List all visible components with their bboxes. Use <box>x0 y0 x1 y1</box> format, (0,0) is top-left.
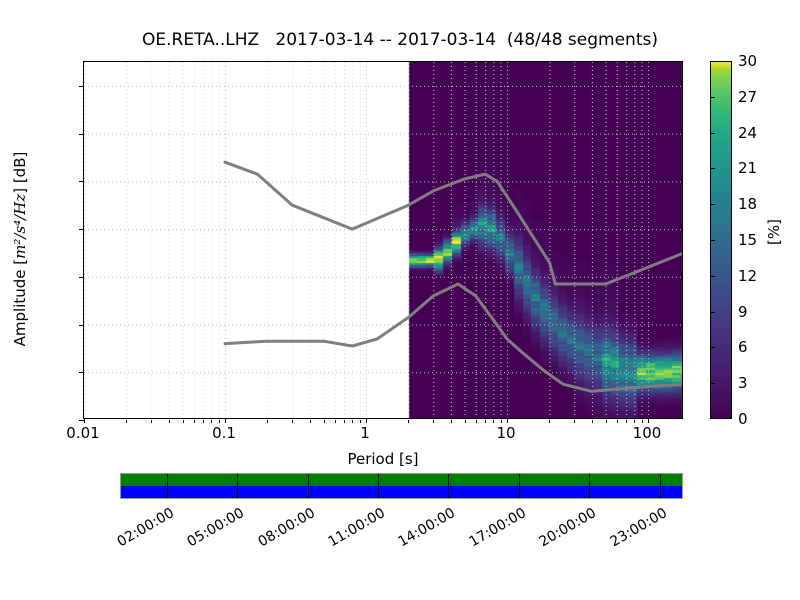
x-tick-mark <box>648 418 649 423</box>
x-tick-mark <box>592 420 593 423</box>
coverage-time-label: 17:00:00 <box>460 505 529 554</box>
coverage-time-label: 02:00:00 <box>108 505 177 554</box>
x-axis-label: Period [s] <box>83 450 683 468</box>
coverage-row-green <box>121 474 682 486</box>
colorbar-tick-label: 6 <box>738 338 748 356</box>
colorbar-tick-label: 3 <box>738 374 748 392</box>
x-tick-mark <box>451 420 452 423</box>
x-tick-mark <box>310 420 311 423</box>
nhnm-curve <box>225 162 682 284</box>
coverage-time-label: 11:00:00 <box>319 505 388 554</box>
x-tick-mark <box>476 420 477 423</box>
coverage-time-label: 20:00:00 <box>531 505 600 554</box>
colorbar-tick-mark <box>710 312 715 313</box>
coverage-time-label: 14:00:00 <box>390 505 459 554</box>
colorbar-tick-label: 24 <box>738 124 757 142</box>
coverage-row-blue <box>121 486 682 498</box>
x-tick-mark <box>549 420 550 423</box>
x-tick-mark <box>433 420 434 423</box>
x-tick-mark <box>493 420 494 423</box>
colorbar-tick-mark <box>710 347 715 348</box>
x-tick-mark <box>360 420 361 423</box>
coverage-tick <box>589 474 590 498</box>
coverage-time-label: 05:00:00 <box>179 505 248 554</box>
noise-model-curves <box>84 62 682 418</box>
x-tick-mark <box>617 420 618 423</box>
coverage-tick <box>519 474 520 498</box>
time-coverage-bar[interactable] <box>120 473 683 499</box>
colorbar-tick-label: 27 <box>738 88 757 106</box>
x-tick-mark <box>267 420 268 423</box>
coverage-time-label: 08:00:00 <box>249 505 318 554</box>
coverage-tick <box>237 474 238 498</box>
x-tick-mark <box>219 420 220 423</box>
x-tick-mark <box>151 420 152 423</box>
ppsd-canvas <box>84 62 682 418</box>
x-tick-mark <box>465 420 466 423</box>
y-axis-label-suffix: ] [dB] <box>11 152 29 194</box>
y-tick-mark <box>79 277 84 278</box>
y-tick-mark <box>79 86 84 87</box>
coverage-tick <box>448 474 449 498</box>
coverage-tick <box>660 474 661 498</box>
coverage-tick <box>308 474 309 498</box>
colorbar-tick-mark <box>710 168 715 169</box>
colorbar-tick-label: 12 <box>738 267 757 285</box>
y-axis-label-units: m²/s⁴/Hz <box>11 194 29 259</box>
y-tick-mark <box>79 325 84 326</box>
colorbar-tick-label: 30 <box>738 52 757 70</box>
x-tick-mark <box>642 420 643 423</box>
colorbar-tick-label: 18 <box>738 195 757 213</box>
coverage-tick <box>167 474 168 498</box>
x-tick-mark <box>169 420 170 423</box>
x-tick-mark <box>574 420 575 423</box>
x-tick-mark <box>335 420 336 423</box>
x-tick-label: 1 <box>360 424 370 442</box>
colorbar-tick-mark <box>710 240 715 241</box>
x-tick-mark <box>324 420 325 423</box>
x-tick-mark <box>183 420 184 423</box>
y-tick-mark <box>79 181 84 182</box>
x-tick-mark <box>126 420 127 423</box>
colorbar-tick-label: 21 <box>738 159 757 177</box>
y-axis-label: Amplitude [m²/s⁴/Hz] [dB] <box>11 69 29 429</box>
x-tick-mark <box>344 420 345 423</box>
colorbar-tick-mark <box>710 204 715 205</box>
colorbar-tick-mark <box>710 97 715 98</box>
ppsd-plot-area[interactable]: −60−80−100−120−140−160−180−200 <box>83 61 683 419</box>
x-tick-mark <box>408 420 409 423</box>
x-tick-mark <box>211 420 212 423</box>
y-tick-mark <box>79 229 84 230</box>
x-tick-label: 100 <box>633 424 662 442</box>
colorbar-tick-mark <box>710 133 715 134</box>
coverage-tick <box>378 474 379 498</box>
x-tick-label: 0.01 <box>66 424 99 442</box>
x-tick-mark <box>203 420 204 423</box>
y-tick-mark <box>79 372 84 373</box>
y-axis-label-prefix: Amplitude [ <box>11 259 29 347</box>
x-tick-label: 10 <box>496 424 515 442</box>
colorbar-tick-mark <box>710 276 715 277</box>
x-tick-mark <box>507 418 508 423</box>
nlnm-curve <box>225 284 682 391</box>
page-title: OE.RETA..LHZ 2017-03-14 -- 2017-03-14 (4… <box>0 30 800 50</box>
x-tick-mark <box>634 420 635 423</box>
x-tick-mark <box>194 420 195 423</box>
colorbar-tick-label: 9 <box>738 303 748 321</box>
x-tick-mark <box>84 418 85 423</box>
x-tick-mark <box>366 418 367 423</box>
y-tick-mark <box>79 134 84 135</box>
x-tick-mark <box>225 418 226 423</box>
x-tick-mark <box>606 420 607 423</box>
x-tick-mark <box>292 420 293 423</box>
colorbar-tick-label: 0 <box>738 410 748 428</box>
colorbar-tick-label: 15 <box>738 231 757 249</box>
x-tick-mark <box>485 420 486 423</box>
colorbar-label: [%] <box>765 202 783 262</box>
x-tick-mark <box>626 420 627 423</box>
coverage-time-label: 23:00:00 <box>601 505 670 554</box>
ppsd-figure: OE.RETA..LHZ 2017-03-14 -- 2017-03-14 (4… <box>0 0 800 600</box>
colorbar-tick-mark <box>710 383 715 384</box>
x-tick-label: 0.1 <box>212 424 236 442</box>
x-tick-mark <box>352 420 353 423</box>
x-tick-mark <box>501 420 502 423</box>
